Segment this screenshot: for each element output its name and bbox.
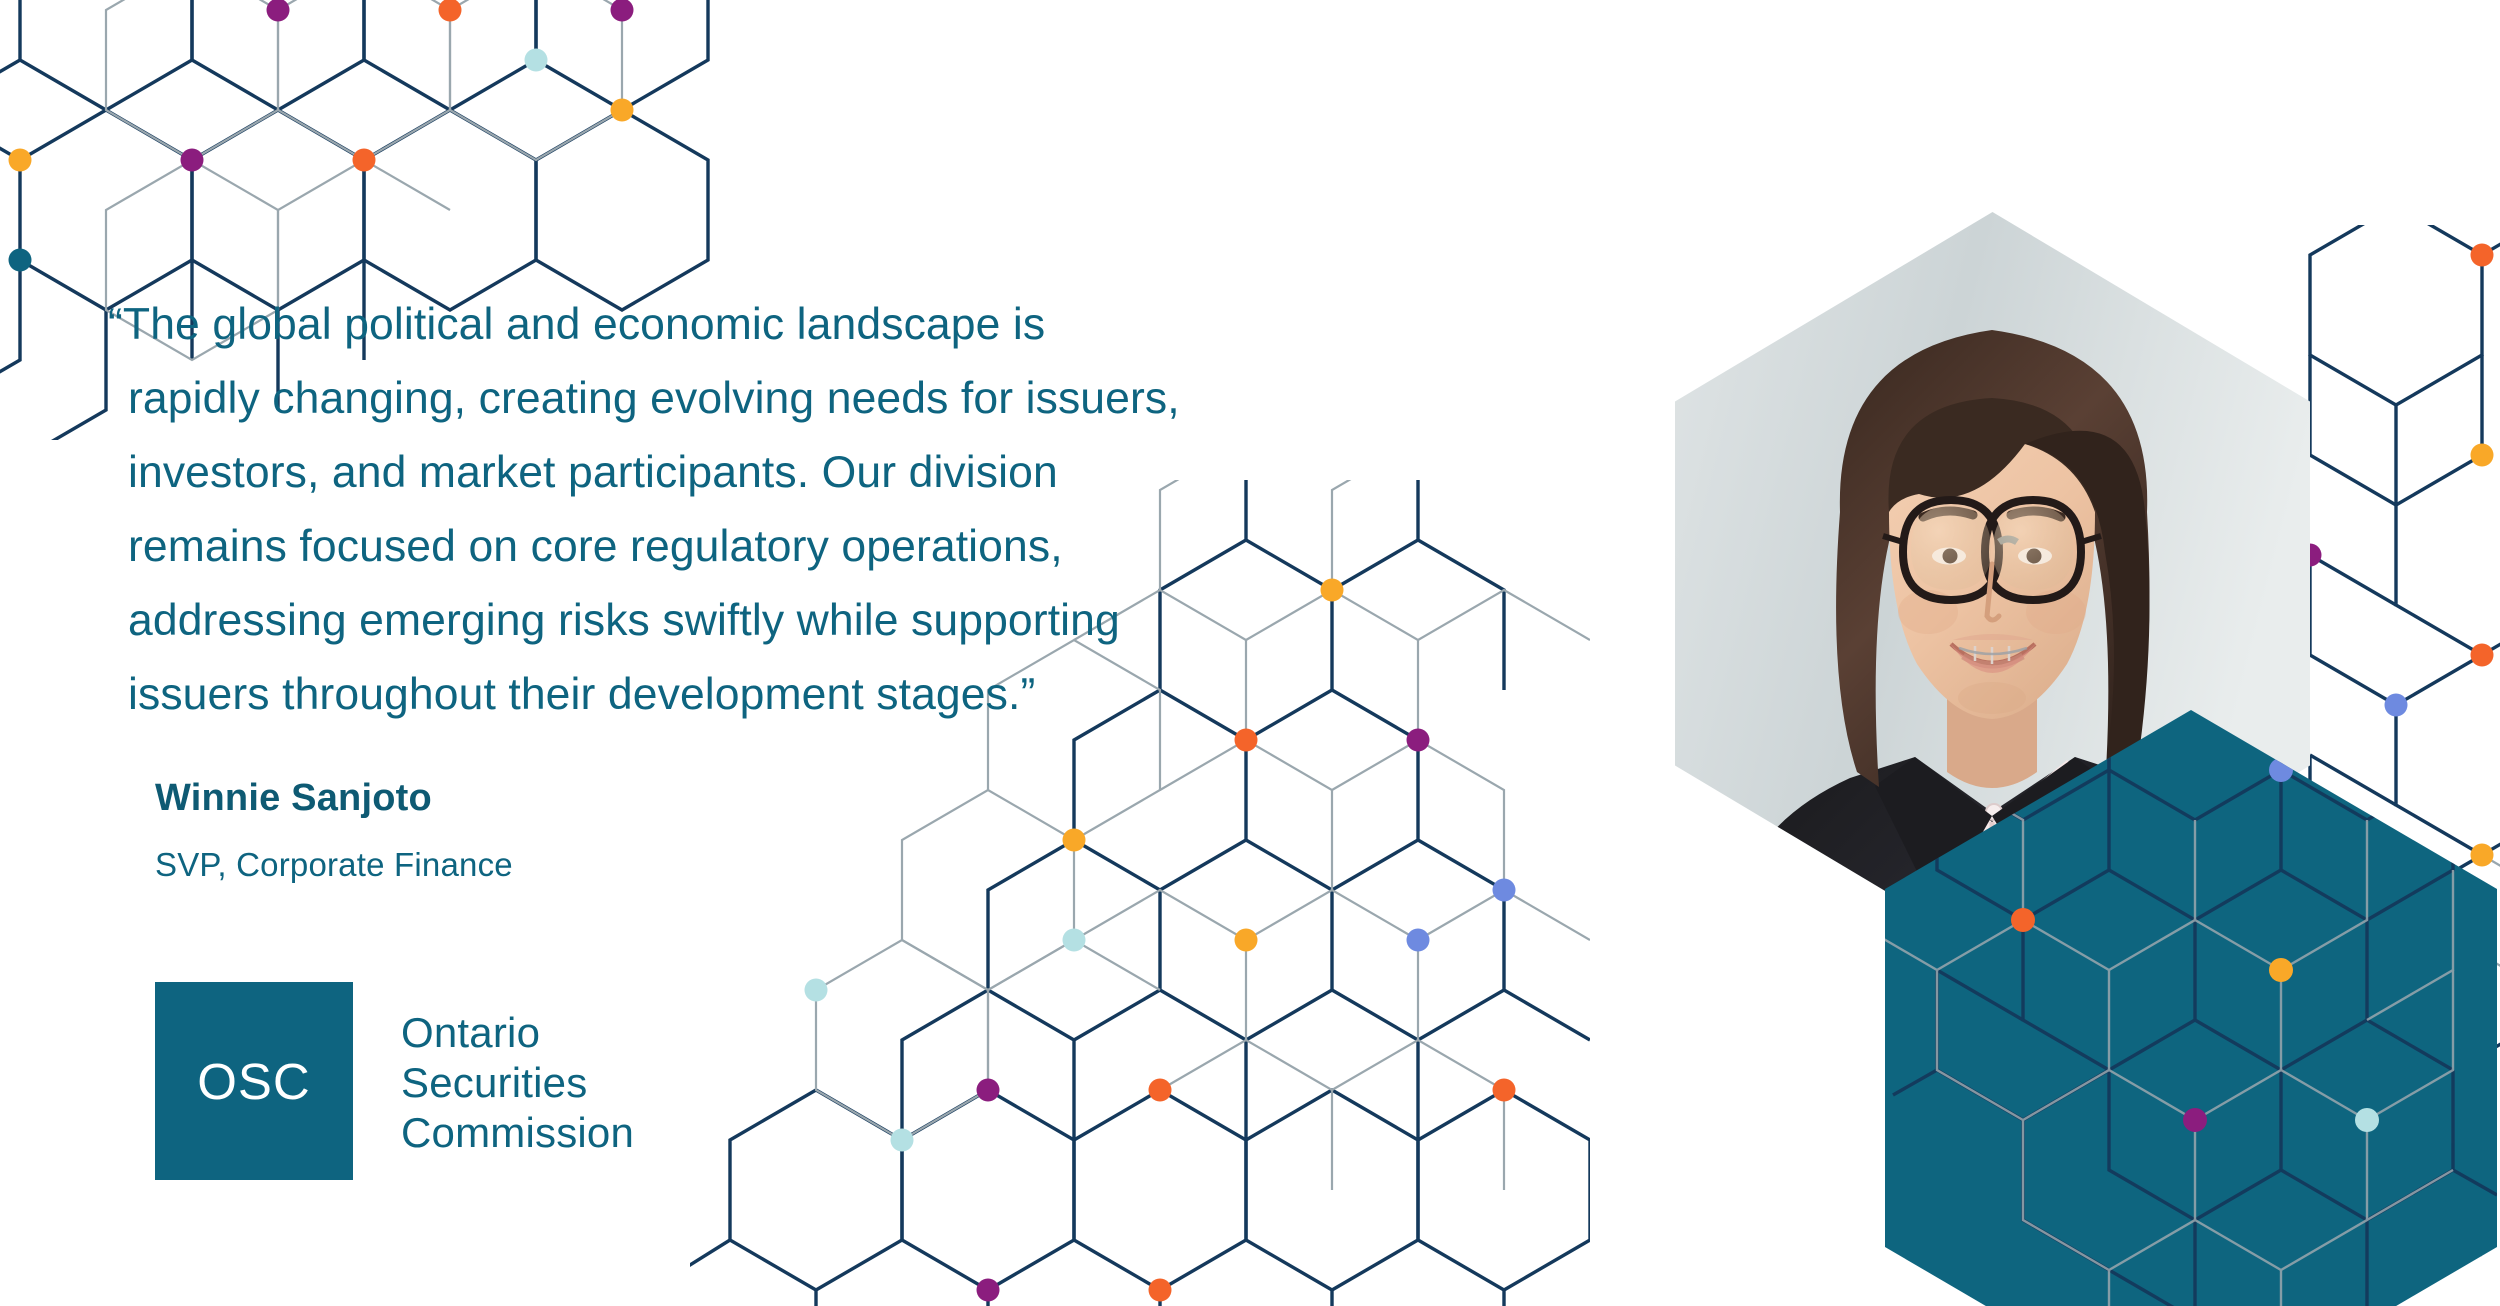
osc-logo-mark-text: OSC: [197, 1052, 311, 1111]
attribution: Winnie Sanjoto SVP, Corporate Finance: [155, 775, 513, 887]
person-title: SVP, Corporate Finance: [155, 843, 513, 887]
person-name: Winnie Sanjoto: [155, 775, 513, 821]
quote-text: “The global political and economic lands…: [128, 288, 1528, 732]
pull-quote: “The global political and economic lands…: [128, 288, 1528, 732]
teal-hexagon-accent: [1885, 710, 2497, 1306]
slide-canvas: “The global political and economic lands…: [0, 0, 2500, 1306]
osc-logo-mark: OSC: [155, 982, 353, 1180]
osc-wordmark: Ontario Securities Commission: [401, 1008, 634, 1158]
osc-logo: OSC Ontario Securities Commission: [155, 982, 634, 1180]
